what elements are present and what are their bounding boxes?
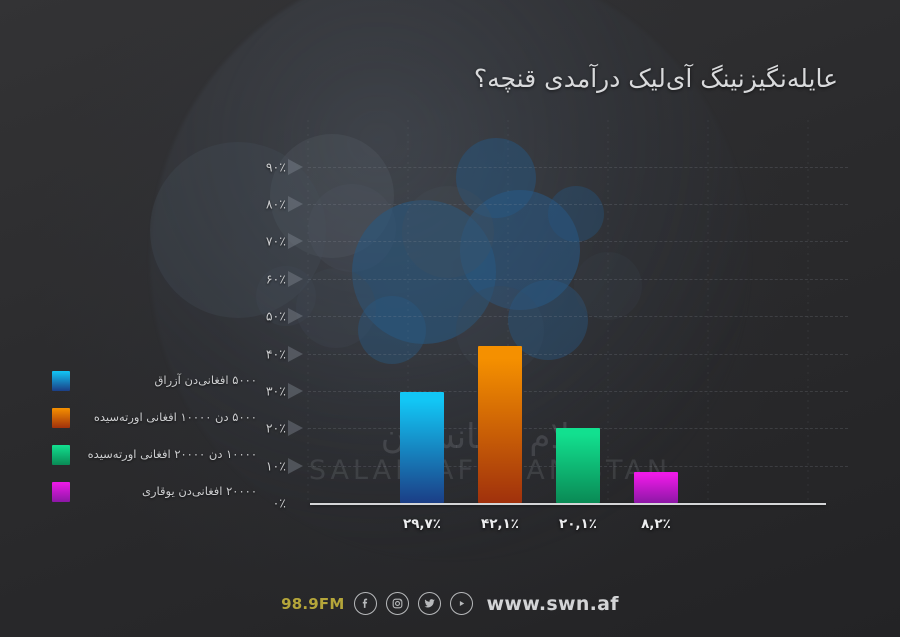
y-tick-label: ۷۰٪ [240,234,286,249]
y-tick-label: ۴۰٪ [240,346,286,361]
legend-label: ۱۰۰۰۰ دن ۲۰۰۰۰ افغانی اورته‌سیده [79,448,257,462]
bar-value-label: ۴۲,۱٪ [455,516,545,532]
bar-value-label: ۸,۲٪ [611,516,701,532]
plot-area: ۹۰٪۸۰٪۷۰٪۶۰٪۵۰٪۴۰٪۳۰٪۲۰٪۱۰٪۰٪ ۲۹,۷٪۴۲,۱٪… [248,120,848,505]
y-tick-arrow [288,159,303,175]
instagram-icon[interactable] [386,592,409,615]
gridline [308,204,848,205]
legend-label: ۵۰۰۰ افغانی‌دن آزراق [79,374,257,388]
legend-item[interactable]: ۲۰۰۰۰ افغانی‌دن یوقاری [52,473,257,510]
y-tick-label: ۸۰٪ [240,197,286,212]
chart-title: عایله‌نگیزنینگ آی‌لیک درآمدی قنچه؟ [198,62,838,96]
footer: 98.9FM www.swn.af [0,592,900,615]
bar-value-label: ۲۰,۱٪ [533,516,623,532]
y-tick-label: ۶۰٪ [240,271,286,286]
facebook-icon[interactable] [354,592,377,615]
gridline [308,167,848,168]
y-tick-arrow [288,271,303,287]
bar [400,392,444,503]
y-tick-arrow [288,420,303,436]
legend-item[interactable]: ۵۰۰۰ افغانی‌دن آزراق [52,362,257,399]
y-tick-label: ۹۰٪ [240,159,286,174]
gridline [308,316,848,317]
legend-swatch [52,482,70,502]
website-url[interactable]: www.swn.af [487,593,619,615]
legend-label: ۲۰۰۰۰ افغانی‌دن یوقاری [79,485,257,499]
legend-label: ۵۰۰۰ دن ۱۰۰۰۰ افغانی اورته‌سیده [79,411,257,425]
legend: ۵۰۰۰ افغانی‌دن آزراق۵۰۰۰ دن ۱۰۰۰۰ افغانی… [52,362,257,510]
y-tick-arrow [288,308,303,324]
y-tick-arrow [288,458,303,474]
gridline [308,279,848,280]
legend-item[interactable]: ۱۰۰۰۰ دن ۲۰۰۰۰ افغانی اورته‌سیده [52,436,257,473]
youtube-icon[interactable] [450,592,473,615]
y-tick-arrow [288,346,303,362]
bar [556,428,600,503]
legend-swatch [52,445,70,465]
legend-swatch [52,371,70,391]
legend-swatch [52,408,70,428]
bar [634,472,678,503]
x-axis-line [310,503,826,505]
y-tick-arrow [288,196,303,212]
gridline [308,354,848,355]
infographic-canvas: عایله‌نگیزنینگ آی‌لیک درآمدی قنچه؟ سلام … [0,0,900,637]
gridline [308,391,848,392]
bar-value-label: ۲۹,۷٪ [377,516,467,532]
y-tick-arrow [288,383,303,399]
y-tick-label: ۵۰٪ [240,309,286,324]
gridline [308,241,848,242]
radio-frequency-label: 98.9FM [281,595,344,613]
twitter-icon[interactable] [418,592,441,615]
y-tick-arrow [288,233,303,249]
bar [478,346,522,503]
legend-item[interactable]: ۵۰۰۰ دن ۱۰۰۰۰ افغانی اورته‌سیده [52,399,257,436]
